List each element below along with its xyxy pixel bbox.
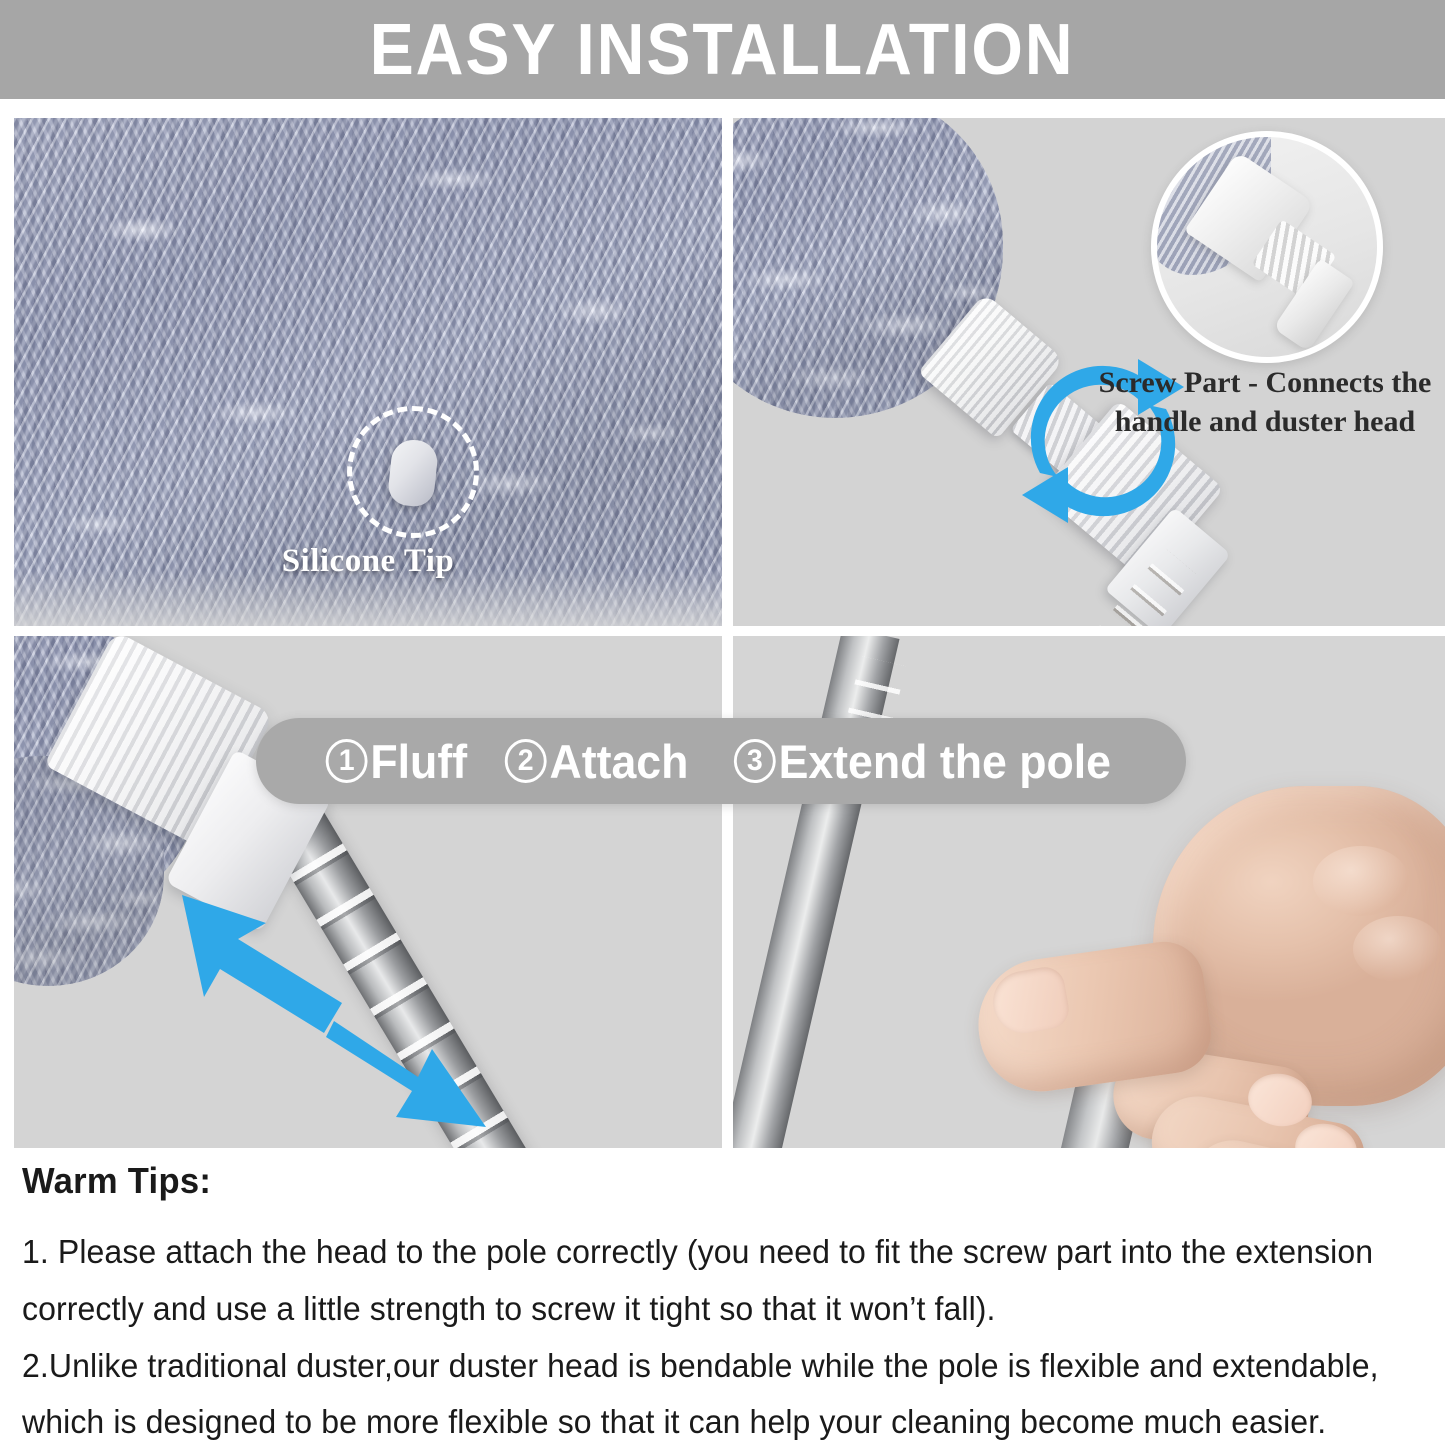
header-bar: EASY INSTALLATION <box>0 0 1445 99</box>
warm-tips-title: Warm Tips: <box>22 1160 1367 1202</box>
step-item-1: 1 Fluff <box>325 738 466 785</box>
panel-extend-pole <box>14 636 722 1148</box>
panel-grid: Silicone Tip Screw Part - <box>0 118 1445 1148</box>
hand-graphic <box>883 756 1445 1148</box>
screw-part-label: Screw Part - Connects the handle and dus… <box>1085 363 1445 441</box>
infographic-page: EASY INSTALLATION Silicone Tip <box>0 0 1445 1445</box>
knuckle-highlight <box>1313 846 1409 916</box>
knuckle-highlight <box>1353 916 1443 982</box>
warm-tip-line: which is designed to be more flexible so… <box>22 1394 1381 1451</box>
page-title: EASY INSTALLATION <box>370 14 1075 86</box>
screw-connector-inset <box>1151 131 1383 363</box>
warm-tip-line: 1. Please attach the head to the pole co… <box>22 1224 1381 1281</box>
step-number-1: 1 <box>325 739 367 783</box>
warm-tip-line: correctly and use a little strength to s… <box>22 1281 1381 1338</box>
dashed-highlight-circle <box>347 406 479 538</box>
panel-screw-part: Screw Part - Connects the handle and dus… <box>733 118 1445 626</box>
panel-silicone-tip: Silicone Tip <box>14 118 722 626</box>
step-label-3: Extend the pole <box>778 738 1110 785</box>
warm-tip-line: 2.Unlike traditional duster,our duster h… <box>22 1338 1381 1395</box>
silicone-tip-label: Silicone Tip <box>14 543 722 580</box>
step-label-2: Attach <box>550 738 689 785</box>
step-item-2: 2 Attach <box>505 738 689 785</box>
step-item-3: 3 Extend the pole <box>733 738 1110 785</box>
step-number-2: 2 <box>505 739 547 783</box>
screw-part-label-line2: handle and duster head <box>1115 405 1415 438</box>
extend-double-arrow-icon <box>174 881 494 1141</box>
screw-part-label-line1: Screw Part - Connects the <box>1099 366 1432 399</box>
steps-banner: 1 Fluff 2 Attach 3 Extend the pole <box>256 718 1186 804</box>
step-label-1: Fluff <box>370 738 467 785</box>
warm-tips-section: Warm Tips: 1. Please attach the head to … <box>0 1160 1445 1445</box>
panel-hand-holding-pole <box>733 636 1445 1148</box>
step-number-3: 3 <box>733 739 775 783</box>
